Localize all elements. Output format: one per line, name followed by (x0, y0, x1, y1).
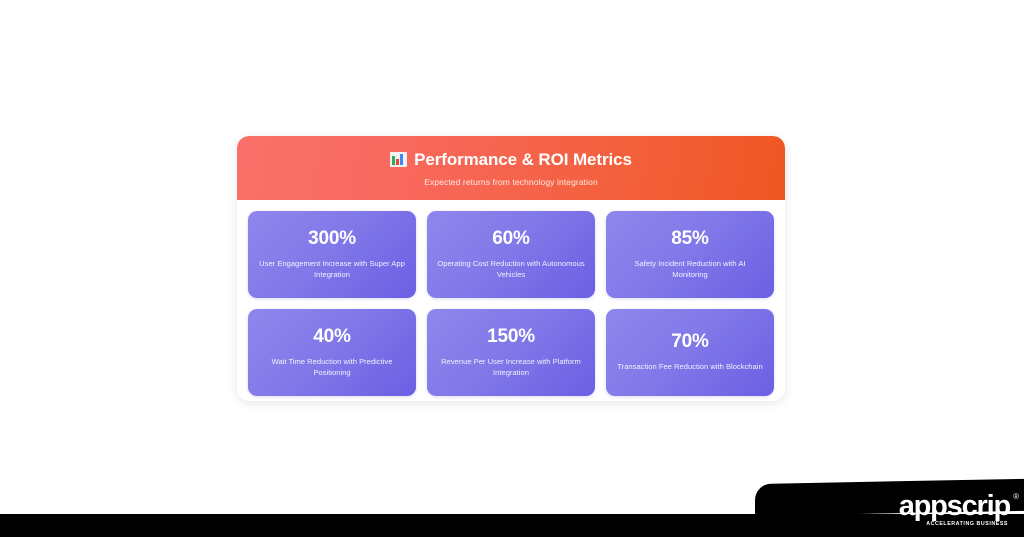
metric-label: Safety Incident Reduction with AI Monito… (616, 258, 764, 281)
metric-card[interactable]: 70% Transaction Fee Reduction with Block… (606, 309, 774, 396)
metric-value: 70% (671, 332, 708, 352)
appscrip-logo: appscrip ® ACCELERATING BUSINESS (899, 492, 1010, 527)
panel-header: Performance & ROI Metrics Expected retur… (237, 136, 785, 200)
metric-label: Operating Cost Reduction with Autonomous… (437, 258, 585, 281)
metric-label: User Engagement Increase with Super App … (258, 258, 406, 281)
registered-trademark-icon: ® (1013, 493, 1019, 501)
bar-chart-icon (390, 152, 407, 167)
panel-subtitle: Expected returns from technology integra… (424, 177, 598, 187)
metric-value: 300% (308, 229, 356, 249)
footer-bar (0, 514, 1024, 537)
metric-card[interactable]: 60% Operating Cost Reduction with Autono… (427, 211, 595, 298)
metric-label: Transaction Fee Reduction with Blockchai… (617, 361, 762, 372)
metrics-grid: 300% User Engagement Increase with Super… (237, 200, 785, 401)
metric-label: Revenue Per User Increase with Platform … (437, 356, 585, 379)
logo-tagline: ACCELERATING BUSINESS (899, 522, 1008, 527)
metric-value: 150% (487, 327, 535, 347)
page-title: Performance & ROI Metrics (414, 151, 632, 168)
metrics-panel: Performance & ROI Metrics Expected retur… (237, 136, 785, 401)
metric-value: 85% (671, 229, 708, 249)
metric-value: 40% (313, 327, 350, 347)
metric-card[interactable]: 85% Safety Incident Reduction with AI Mo… (606, 211, 774, 298)
logo-brand-text: appscrip (899, 490, 1010, 522)
metric-card[interactable]: 300% User Engagement Increase with Super… (248, 211, 416, 298)
metric-card[interactable]: 150% Revenue Per User Increase with Plat… (427, 309, 595, 396)
metric-label: Wait Time Reduction with Predictive Posi… (258, 356, 406, 379)
metric-card[interactable]: 40% Wait Time Reduction with Predictive … (248, 309, 416, 396)
logo-wordmark: appscrip ® (899, 492, 1010, 521)
slide-canvas: Performance & ROI Metrics Expected retur… (0, 0, 1024, 537)
panel-header-title-row: Performance & ROI Metrics (390, 151, 632, 168)
metric-value: 60% (492, 229, 529, 249)
